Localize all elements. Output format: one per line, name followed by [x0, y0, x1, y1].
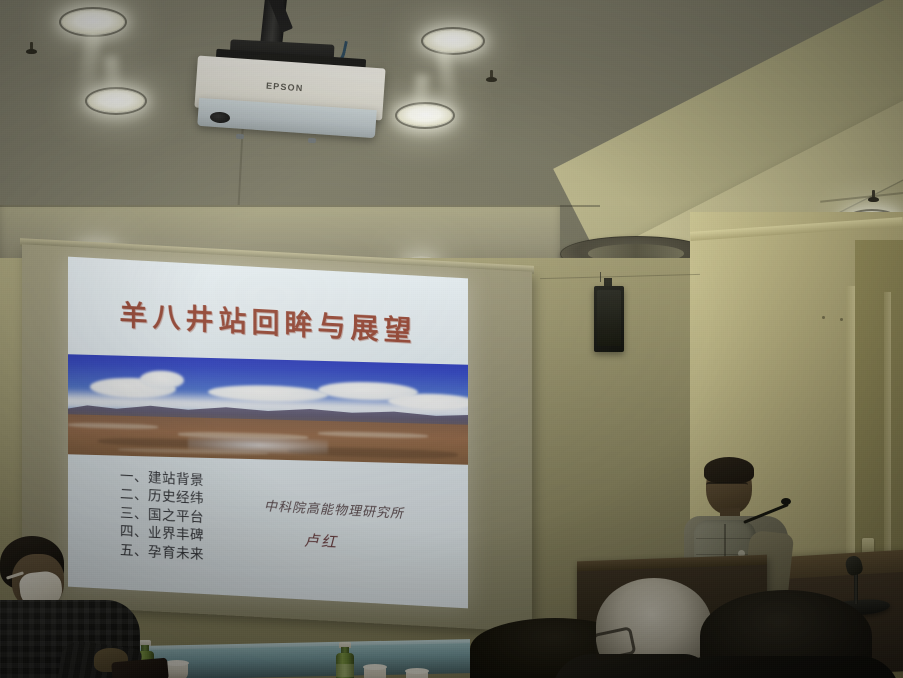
ceiling-step-edge: [0, 205, 600, 207]
slide-title: 羊八井站回眸与展望: [68, 291, 468, 353]
slide-author-name: 卢红: [304, 529, 338, 552]
handheld-device: [111, 658, 169, 678]
audience-member-dark-hair: [700, 590, 890, 678]
presenter-hair: [704, 457, 754, 483]
slide-affiliation: 中科院高能物理研究所: [264, 495, 404, 522]
speaker-wire: [600, 272, 601, 282]
wall-speaker: [594, 286, 624, 352]
microphone-capsule-icon: [844, 554, 864, 576]
conference-room-scene: EPSON 羊八井站回眸与展望: [0, 0, 903, 678]
wall-fixing: [822, 316, 825, 319]
microphone-capsule-icon: [781, 498, 791, 505]
slide-panorama-photo: [68, 354, 468, 464]
ceiling-projector: EPSON: [196, 52, 384, 138]
audience-shoulders: [670, 656, 900, 678]
speaker-grill-icon: [597, 290, 621, 346]
wall-fixing: [840, 318, 843, 321]
eyeglasses-icon: [706, 482, 748, 491]
